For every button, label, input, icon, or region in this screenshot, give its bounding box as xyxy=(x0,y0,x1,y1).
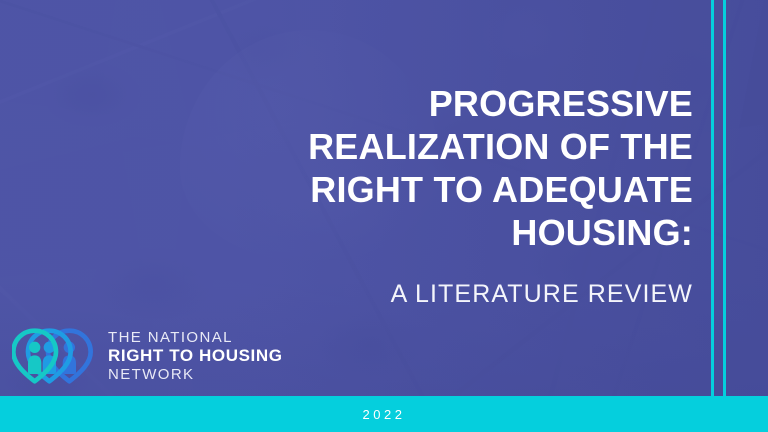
cover-slide: PROGRESSIVE REALIZATION OF THE RIGHT TO … xyxy=(0,0,768,432)
organization-logo: THE NATIONAL RIGHT TO HOUSING NETWORK xyxy=(12,328,283,384)
title-line-3: RIGHT TO ADEQUATE xyxy=(223,168,693,211)
title-line-4: HOUSING: xyxy=(223,211,693,254)
vertical-accent-rule-1 xyxy=(711,0,714,396)
footer-bar: 2022 xyxy=(0,396,768,432)
logo-line-network: NETWORK xyxy=(108,366,283,383)
vertical-accent-rule-2 xyxy=(723,0,726,396)
title-line-2: REALIZATION OF THE xyxy=(223,125,693,168)
page-title: PROGRESSIVE REALIZATION OF THE RIGHT TO … xyxy=(223,82,693,254)
title-line-1: PROGRESSIVE xyxy=(223,82,693,125)
logo-line-right-to-housing: RIGHT TO HOUSING xyxy=(108,346,283,366)
publication-year: 2022 xyxy=(363,407,406,422)
three-person-map-pins-icon xyxy=(12,328,96,384)
logo-line-the-national: THE NATIONAL xyxy=(108,329,283,346)
logo-wordmark: THE NATIONAL RIGHT TO HOUSING NETWORK xyxy=(108,329,283,384)
page-subtitle: A LITERATURE REVIEW xyxy=(223,280,693,309)
